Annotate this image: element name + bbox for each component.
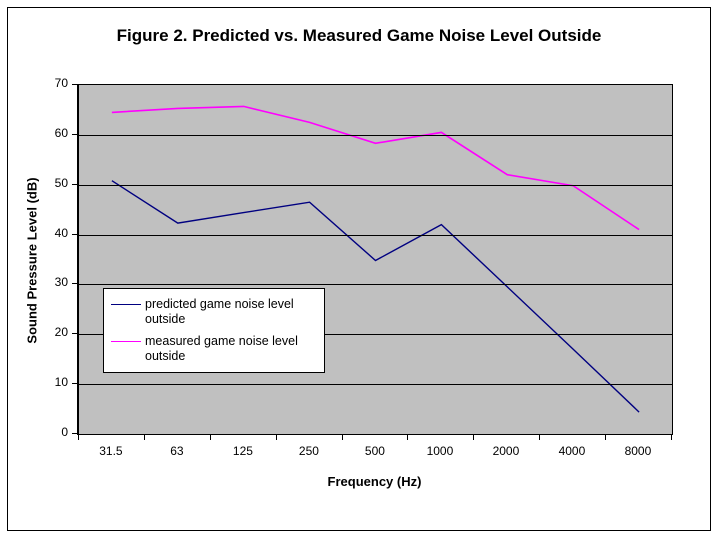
y-axis-label: 30	[22, 275, 68, 289]
x-axis-tick	[276, 434, 277, 440]
gridline	[79, 384, 672, 385]
gridline	[79, 284, 672, 285]
y-axis-tick	[72, 333, 77, 334]
figure-container: Figure 2. Predicted vs. Measured Game No…	[7, 7, 711, 531]
gridline	[79, 235, 672, 236]
x-axis-label: 1000	[407, 444, 473, 458]
chart-title: Figure 2. Predicted vs. Measured Game No…	[8, 26, 710, 46]
legend: predicted game noise level outside measu…	[103, 288, 325, 373]
y-axis-label: 0	[22, 425, 68, 439]
legend-swatch-measured-icon	[111, 334, 141, 348]
legend-entry-measured: measured game noise level outside	[111, 334, 319, 364]
series-lines	[79, 85, 672, 434]
x-axis-tick	[539, 434, 540, 440]
x-axis-tick	[605, 434, 606, 440]
y-axis-label: 20	[22, 325, 68, 339]
plot-area	[78, 84, 673, 435]
x-axis-tick	[407, 434, 408, 440]
y-axis-tick	[72, 134, 77, 135]
gridline	[79, 135, 672, 136]
x-axis-tick	[78, 434, 79, 440]
x-axis-label: 4000	[539, 444, 605, 458]
y-axis-tick	[72, 84, 77, 85]
x-axis-label: 500	[342, 444, 408, 458]
y-axis-tick	[72, 234, 77, 235]
x-axis-tick	[144, 434, 145, 440]
series-line-measured	[112, 106, 639, 229]
legend-label-measured: measured game noise level outside	[145, 334, 319, 364]
y-axis-label: 10	[22, 375, 68, 389]
legend-swatch-predicted-icon	[111, 297, 141, 311]
y-axis-tick	[72, 433, 77, 434]
y-axis-label: 50	[22, 176, 68, 190]
x-axis-label: 250	[276, 444, 342, 458]
x-axis-label: 2000	[473, 444, 539, 458]
x-axis-label: 8000	[605, 444, 671, 458]
y-axis-tick	[72, 184, 77, 185]
y-axis-title: Sound Pressure Level (dB)	[25, 131, 40, 391]
x-axis-tick	[671, 434, 672, 440]
x-axis-tick	[473, 434, 474, 440]
legend-entry-predicted: predicted game noise level outside	[111, 297, 319, 327]
y-axis-label: 70	[22, 76, 68, 90]
x-axis-title: Frequency (Hz)	[78, 474, 671, 489]
y-axis-label: 60	[22, 126, 68, 140]
x-axis-label: 63	[144, 444, 210, 458]
y-axis-label: 40	[22, 226, 68, 240]
x-axis-tick	[342, 434, 343, 440]
gridline	[79, 185, 672, 186]
y-axis-tick	[72, 283, 77, 284]
x-axis-label: 125	[210, 444, 276, 458]
x-axis-label: 31.5	[78, 444, 144, 458]
x-axis-tick	[210, 434, 211, 440]
legend-label-predicted: predicted game noise level outside	[145, 297, 319, 327]
y-axis-tick	[72, 383, 77, 384]
